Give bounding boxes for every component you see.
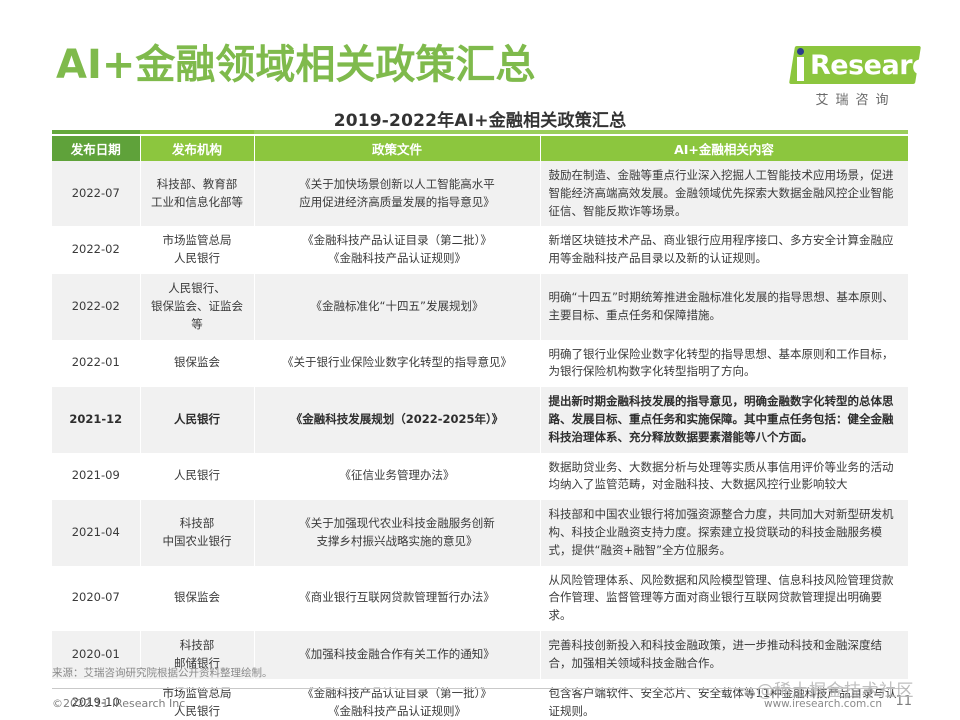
cell-content: 数据助贷业务、大数据分析与处理等实质从事信用评价等业务的活动均纳入了监管范畴，对… [540,453,908,501]
table-header-row: 发布日期 发布机构 政策文件 AI+金融相关内容 [52,136,908,161]
cell-content: 鼓励在制造、金融等重点行业深入挖掘人工智能技术应用场景，促进智能经济高端高效发展… [540,161,908,226]
source-note: 来源：艾瑞咨询研究院根据公开资料整理绘制。 [52,665,273,680]
cell-date: 2022-02 [52,226,140,274]
cell-doc: 《商业银行互联网贷款管理暂行办法》 [254,566,540,631]
cell-doc: 《金融科技产品认证目录（第二批）》《金融科技产品认证规则》 [254,226,540,274]
cell-date: 2020-07 [52,566,140,631]
copyright-text: ©2022.11 iResearch Inc. [52,697,189,710]
logo-mark: Research [786,46,918,84]
cell-content: 新增区块链技术产品、商业银行应用程序接口、多方安全计算金融应用等金融科技产品目录… [540,226,908,274]
cell-org: 人民银行 [140,453,254,501]
cell-doc: 《金融科技发展规划（2022-2025年）》 [254,387,540,452]
cell-content: 明确了银行业保险业数字化转型的指导思想、基本原则和工作目标，为银行保险机构数字化… [540,340,908,388]
table-row: 2021-09人民银行《征信业务管理办法》数据助贷业务、大数据分析与处理等实质从… [52,453,908,501]
cell-doc: 《金融标准化“十四五”发展规划》 [254,274,540,339]
cell-org: 人民银行、银保监会、证监会等 [140,274,254,339]
table-row: 2022-02人民银行、银保监会、证监会等《金融标准化“十四五”发展规划》明确“… [52,274,908,339]
page-title: AI+金融领域相关政策汇总 [56,44,535,86]
table-row: 2021-12人民银行《金融科技发展规划（2022-2025年）》提出新时期金融… [52,387,908,452]
policy-table: 发布日期 发布机构 政策文件 AI+金融相关内容 2022-07科技部、教育部工… [52,136,909,720]
cell-content: 提出新时期金融科技发展的指导意见，明确金融数字化转型的总体思路、发展目标、重点任… [540,387,908,452]
table-row: 2021-04科技部中国农业银行《关于加强现代农业科技金融服务创新支撑乡村振兴战… [52,500,908,565]
cell-content: 完善科技创新投入和科技金融政策，进一步推动科技和金融深度结合，加强相关领域科技金… [540,631,908,679]
cell-date: 2021-12 [52,387,140,452]
iresearch-logo: Research 艾瑞咨询 [786,46,918,108]
accent-segment-1 [52,130,140,134]
cell-content: 从风险管理体系、风险数据和风险模型管理、信息科技风险管理贷款合作管理、监督管理等… [540,566,908,631]
cell-org: 科技部中国农业银行 [140,500,254,565]
table-row: 2022-01银保监会《关于银行业保险业数字化转型的指导意见》明确了银行业保险业… [52,340,908,388]
cell-org: 银保监会 [140,566,254,631]
logo-wordmark: Research [810,50,946,81]
table-row: 2020-07银保监会《商业银行互联网贷款管理暂行办法》从风险管理体系、风险数据… [52,566,908,631]
column-header-doc: 政策文件 [254,136,540,161]
cell-date: 2022-07 [52,161,140,226]
column-header-org: 发布机构 [140,136,254,161]
cell-org: 人民银行 [140,387,254,452]
watermark-text: @稀土掘金技术社区 [757,676,915,701]
cell-doc: 《关于银行业保险业数字化转型的指导意见》 [254,340,540,388]
logo-i-stem-icon [797,57,804,81]
table-body: 2022-07科技部、教育部工业和信息化部等《关于加快场景创新以人工智能高水平应… [52,161,908,720]
chart-subtitle: 2019-2022年AI+金融相关政策汇总 [0,106,960,131]
cell-doc: 《加强科技金融合作有关工作的通知》 [254,631,540,679]
cell-doc: 《金融科技产品认证目录（第一批）》《金融科技产品认证规则》 [254,679,540,720]
cell-content: 科技部和中国农业银行将加强资源整合力度，共同加大对新型研发机构、科技企业融资支持… [540,500,908,565]
accent-bar [52,130,908,134]
cell-doc: 《征信业务管理办法》 [254,453,540,501]
table-head: 发布日期 发布机构 政策文件 AI+金融相关内容 [52,136,908,161]
cell-date: 2021-09 [52,453,140,501]
cell-org: 科技部、教育部工业和信息化部等 [140,161,254,226]
cell-content: 明确“十四五”时期统筹推进金融标准化发展的指导思想、基本原则、主要目标、重点任务… [540,274,908,339]
cell-org: 市场监管总局人民银行 [140,226,254,274]
cell-date: 2021-04 [52,500,140,565]
logo-i-dot-icon [797,48,804,55]
table-row: 2022-07科技部、教育部工业和信息化部等《关于加快场景创新以人工智能高水平应… [52,161,908,226]
column-header-content: AI+金融相关内容 [540,136,908,161]
cell-org: 银保监会 [140,340,254,388]
cell-date: 2022-01 [52,340,140,388]
slide-page: AI+金融领域相关政策汇总 Research 艾瑞咨询 2019-2022年AI… [0,0,960,720]
cell-date: 2022-02 [52,274,140,339]
column-header-date: 发布日期 [52,136,140,161]
table-row: 2022-02市场监管总局人民银行《金融科技产品认证目录（第二批）》《金融科技产… [52,226,908,274]
accent-segment-4 [540,130,908,134]
cell-doc: 《关于加快场景创新以人工智能高水平应用促进经济高质量发展的指导意见》 [254,161,540,226]
accent-segment-3 [254,130,540,134]
accent-segment-2 [140,130,254,134]
cell-doc: 《关于加强现代农业科技金融服务创新支撑乡村振兴战略实施的意见》 [254,500,540,565]
